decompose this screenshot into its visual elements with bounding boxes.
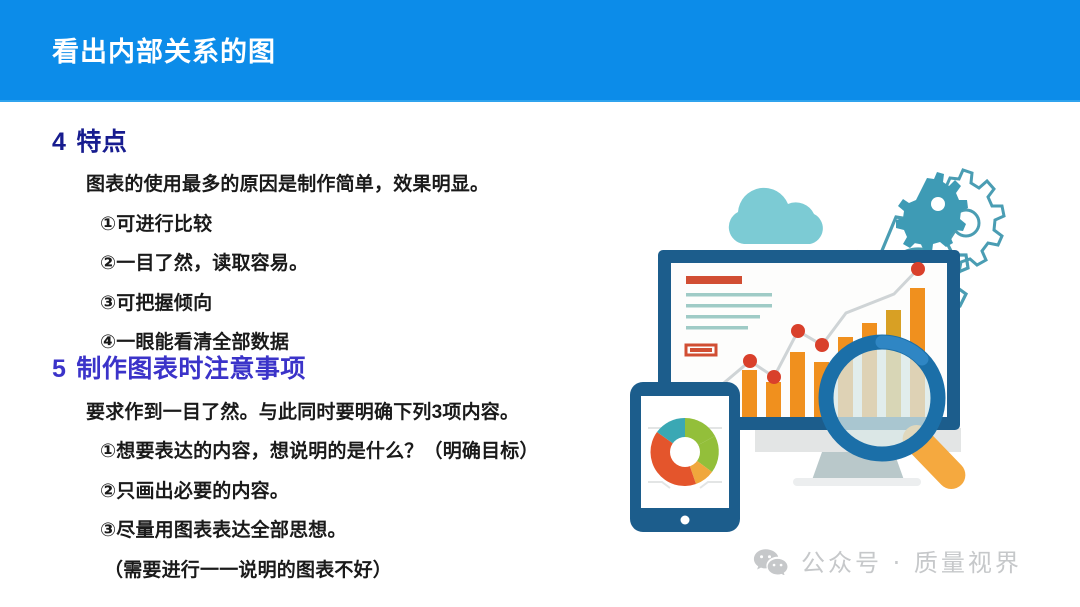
section-5-item-3: ③尽量用图表表达全部思想。 (100, 515, 347, 542)
page-title: 看出内部关系的图 (52, 34, 276, 70)
section-5-number: 5 (52, 355, 66, 383)
section-5-heading: 5制作图表时注意事项 (52, 349, 306, 385)
section-4-item-1: ①可进行比较 (100, 209, 212, 236)
content-column: 4特点 图表的使用最多的原因是制作简单，效果明显。 ①可进行比较 ②一目了然，读… (0, 102, 620, 607)
section-4-item-2: ②一目了然，读取容易。 (100, 248, 308, 275)
gear-small-solid-icon (896, 172, 968, 252)
section-5-note: （需要进行一一说明的图表不好） (104, 555, 392, 582)
section-5-lead: 要求作到一目了然。与此同时要明确下列3项内容。 (86, 397, 519, 424)
section-5-title: 制作图表时注意事项 (76, 355, 306, 383)
section-4-heading: 4特点 (52, 122, 127, 158)
section-4-item-3: ③可把握倾向 (100, 288, 212, 315)
cloud-icon (729, 188, 823, 244)
section-5-item-2: ②只画出必要的内容。 (100, 476, 289, 503)
section-5-item-1: ①想要表达的内容，想说明的是什么？（明确目标） (100, 436, 539, 463)
section-4-lead: 图表的使用最多的原因是制作简单，效果明显。 (86, 169, 489, 196)
watermark-text: 公众号 · 质量视界 (801, 543, 1022, 578)
slide-header: 看出内部关系的图 (0, 0, 1080, 102)
slide: 看出内部关系的图 4特点 图表的使用最多的原因是制作简单，效果明显。 ①可进行比… (0, 0, 1080, 607)
data-analytics-illustration (600, 160, 1040, 540)
watermark: 公众号 · 质量视界 (753, 543, 1022, 578)
section-4-number: 4 (52, 128, 66, 156)
wechat-icon (753, 547, 789, 575)
section-4-title: 特点 (76, 128, 127, 156)
